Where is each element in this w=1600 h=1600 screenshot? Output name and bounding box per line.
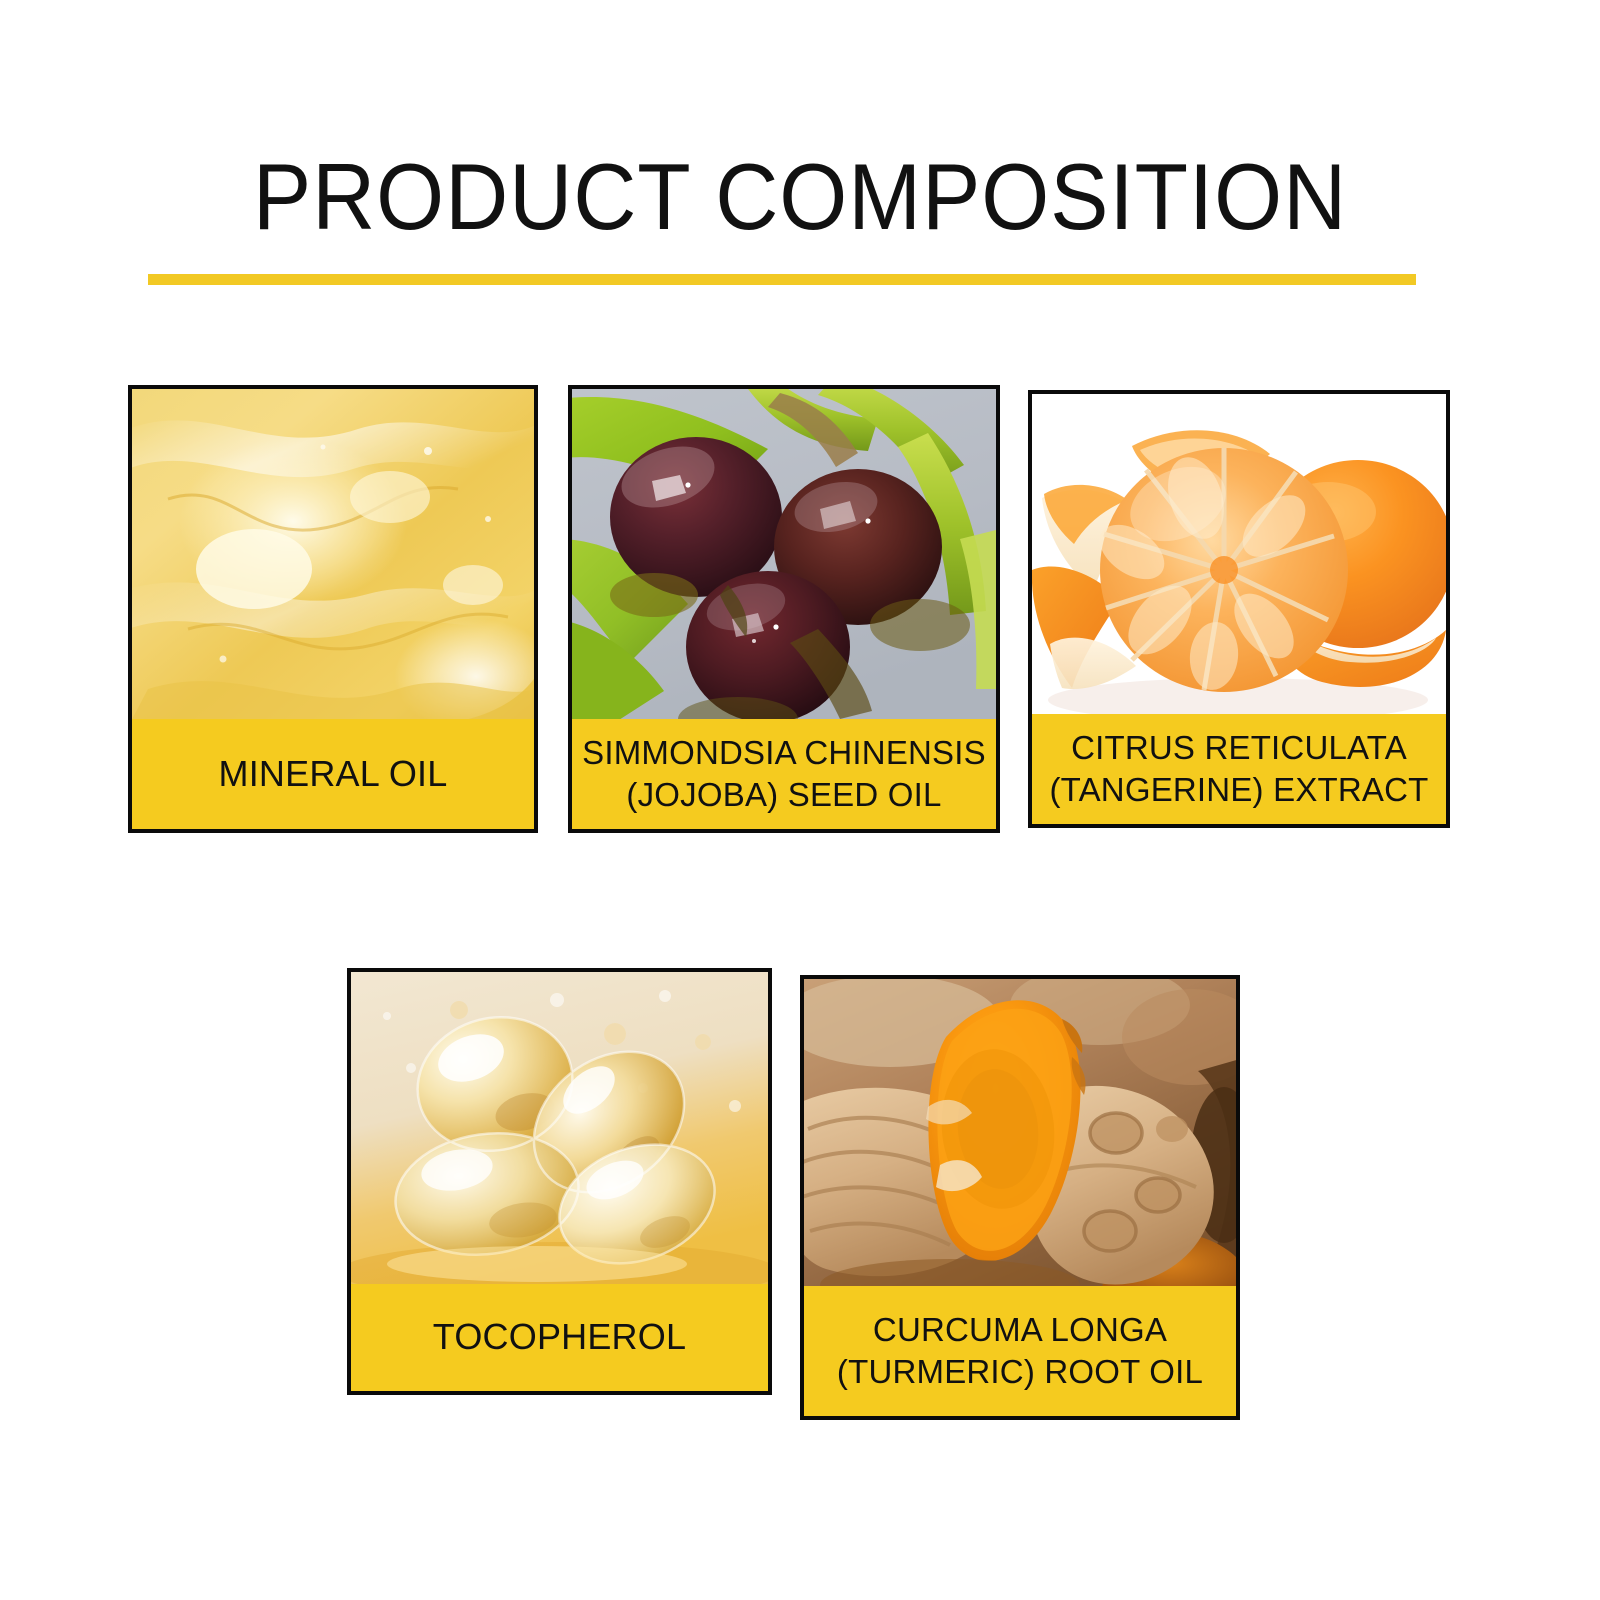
card-label-line: (JOJOBA) SEED OIL (626, 774, 941, 816)
card-label-line: CURCUMA LONGA (873, 1309, 1167, 1351)
ingredient-card-mineral-oil[interactable]: MINERAL OIL (128, 385, 538, 833)
card-label-tocopherol: TOCOPHEROL (351, 1284, 768, 1391)
card-label-line: MINERAL OIL (219, 751, 448, 797)
turmeric-root-photo (804, 979, 1236, 1294)
card-label-jojoba: SIMMONDSIA CHINENSIS (JOJOBA) SEED OIL (572, 719, 996, 829)
card-label-line: (TURMERIC) ROOT OIL (837, 1351, 1203, 1393)
ingredient-card-tangerine[interactable]: CITRUS RETICULATA (TANGERINE) EXTRACT (1028, 390, 1450, 828)
card-label-tangerine: CITRUS RETICULATA (TANGERINE) EXTRACT (1032, 714, 1446, 824)
ingredient-card-turmeric[interactable]: CURCUMA LONGA (TURMERIC) ROOT OIL (800, 975, 1240, 1420)
tocopherol-capsules-photo (351, 972, 768, 1292)
title-underline-rule (148, 274, 1416, 285)
card-label-mineral-oil: MINERAL OIL (132, 719, 534, 829)
tangerine-photo (1032, 394, 1446, 722)
ingredient-card-jojoba[interactable]: SIMMONDSIA CHINENSIS (JOJOBA) SEED OIL (568, 385, 1000, 833)
page-title: PRODUCT COMPOSITION (56, 150, 1544, 244)
header: PRODUCT COMPOSITION (0, 150, 1600, 244)
card-label-line: TOCOPHEROL (433, 1314, 686, 1360)
card-label-line: SIMMONDSIA CHINENSIS (582, 732, 986, 774)
card-label-line: CITRUS RETICULATA (1071, 727, 1407, 769)
mineral-oil-photo (132, 389, 534, 727)
card-label-turmeric: CURCUMA LONGA (TURMERIC) ROOT OIL (804, 1286, 1236, 1416)
infographic-page: PRODUCT COMPOSITION (0, 0, 1600, 1600)
card-label-line: (TANGERINE) EXTRACT (1049, 769, 1428, 811)
jojoba-berries-photo (572, 389, 996, 727)
ingredient-card-tocopherol[interactable]: TOCOPHEROL (347, 968, 772, 1395)
